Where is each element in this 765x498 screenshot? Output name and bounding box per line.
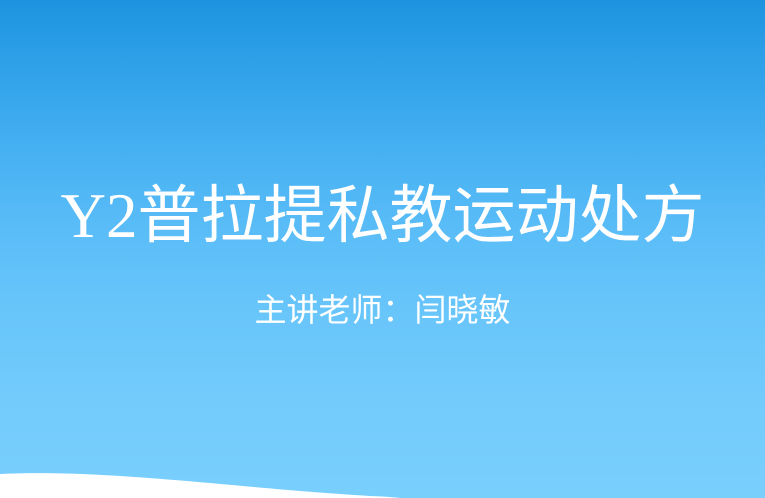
page-title: Y2普拉提私教运动处方: [0, 183, 765, 249]
title-block: Y2普拉提私教运动处方 主讲老师：闫晓敏: [0, 0, 765, 498]
presentation-slide: Y2普拉提私教运动处方 主讲老师：闫晓敏: [0, 0, 765, 498]
slide-subtitle: 主讲老师：闫晓敏: [0, 291, 765, 329]
